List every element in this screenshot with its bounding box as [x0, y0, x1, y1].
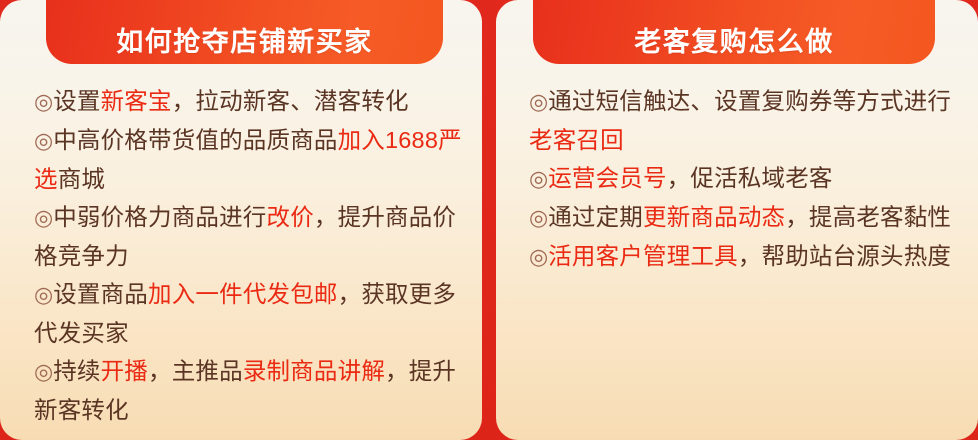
list-item-text: 设置: [53, 88, 100, 114]
highlighted-text: 开播: [101, 358, 148, 384]
list-item: ◎设置商品加入一件代发包邮，获取更多代发买家: [34, 275, 464, 352]
highlighted-text: 更新商品动态: [643, 204, 785, 230]
list-item-text: 设置商品: [53, 281, 148, 307]
bullet-marker-icon: ◎: [34, 89, 53, 114]
list-item: ◎设置新客宝，拉动新客、潜客转化: [34, 82, 464, 121]
bullet-marker-icon: ◎: [529, 166, 548, 191]
highlighted-text: 活用客户管理工具: [548, 243, 738, 269]
highlighted-text: 新客宝: [101, 88, 172, 114]
list-item-text: ，帮助站台源头热度: [738, 243, 951, 269]
bullet-marker-icon: ◎: [529, 89, 548, 114]
list-item-text: 中高价格带货值的品质商品: [53, 127, 337, 153]
list-item: ◎持续开播，主推品录制商品讲解，提升新客转化: [34, 352, 464, 429]
highlighted-text: 老客召回: [529, 127, 624, 153]
infographic-canvas: 如何抢夺店铺新买家 ◎设置新客宝，拉动新客、潜客转化◎中高价格带货值的品质商品加…: [0, 0, 978, 440]
list-item-text: 通过定期: [548, 204, 643, 230]
list-item-text: 通过短信触达、设置复购券等方式进行: [548, 88, 951, 114]
highlighted-text: 改价: [267, 204, 314, 230]
list-item: ◎中弱价格力商品进行改价，提升商品价格竞争力: [34, 198, 464, 275]
list-item-text: ，主推品: [148, 358, 243, 384]
list-item: ◎运营会员号，促活私域老客: [529, 159, 962, 198]
list-item-text: ，拉动新客、潜客转化: [172, 88, 409, 114]
bullet-marker-icon: ◎: [529, 205, 548, 230]
list-item-text: 商城: [58, 166, 105, 192]
list-item: ◎通过定期更新商品动态，提高老客黏性: [529, 198, 962, 237]
card-header-ribbon: 老客复购怎么做: [533, 0, 935, 64]
bullet-marker-icon: ◎: [34, 282, 53, 307]
bullet-marker-icon: ◎: [34, 128, 53, 153]
bullet-list-new-buyer: ◎设置新客宝，拉动新客、潜客转化◎中高价格带货值的品质商品加入1688严选商城◎…: [34, 82, 464, 429]
card-repurchase: 老客复购怎么做 ◎通过短信触达、设置复购券等方式进行老客召回◎运营会员号，促活私…: [496, 0, 978, 440]
list-item: ◎中高价格带货值的品质商品加入1688严选商城: [34, 121, 464, 198]
card-new-buyer: 如何抢夺店铺新买家 ◎设置新客宝，拉动新客、潜客转化◎中高价格带货值的品质商品加…: [0, 0, 482, 440]
highlighted-text: 加入一件代发包邮: [148, 281, 338, 307]
bullet-marker-icon: ◎: [529, 244, 548, 269]
list-item: ◎通过短信触达、设置复购券等方式进行老客召回: [529, 82, 962, 159]
highlighted-text: 录制商品讲解: [243, 358, 385, 384]
page-title: 如何抢夺店铺新买家: [116, 29, 373, 56]
highlighted-text: 运营会员号: [548, 165, 667, 191]
list-item-text: ，促活私域老客: [667, 165, 833, 191]
list-item-text: 持续: [53, 358, 100, 384]
bullet-marker-icon: ◎: [34, 359, 53, 384]
bullet-list-repurchase: ◎通过短信触达、设置复购券等方式进行老客召回◎运营会员号，促活私域老客◎通过定期…: [529, 82, 962, 276]
page-title: 老客复购怎么做: [634, 29, 834, 56]
list-item: ◎活用客户管理工具，帮助站台源头热度: [529, 237, 962, 276]
list-item-text: 中弱价格力商品进行: [53, 204, 266, 230]
list-item-text: ，提高老客黏性: [785, 204, 951, 230]
card-header-ribbon: 如何抢夺店铺新买家: [46, 0, 443, 64]
bullet-marker-icon: ◎: [34, 205, 53, 230]
